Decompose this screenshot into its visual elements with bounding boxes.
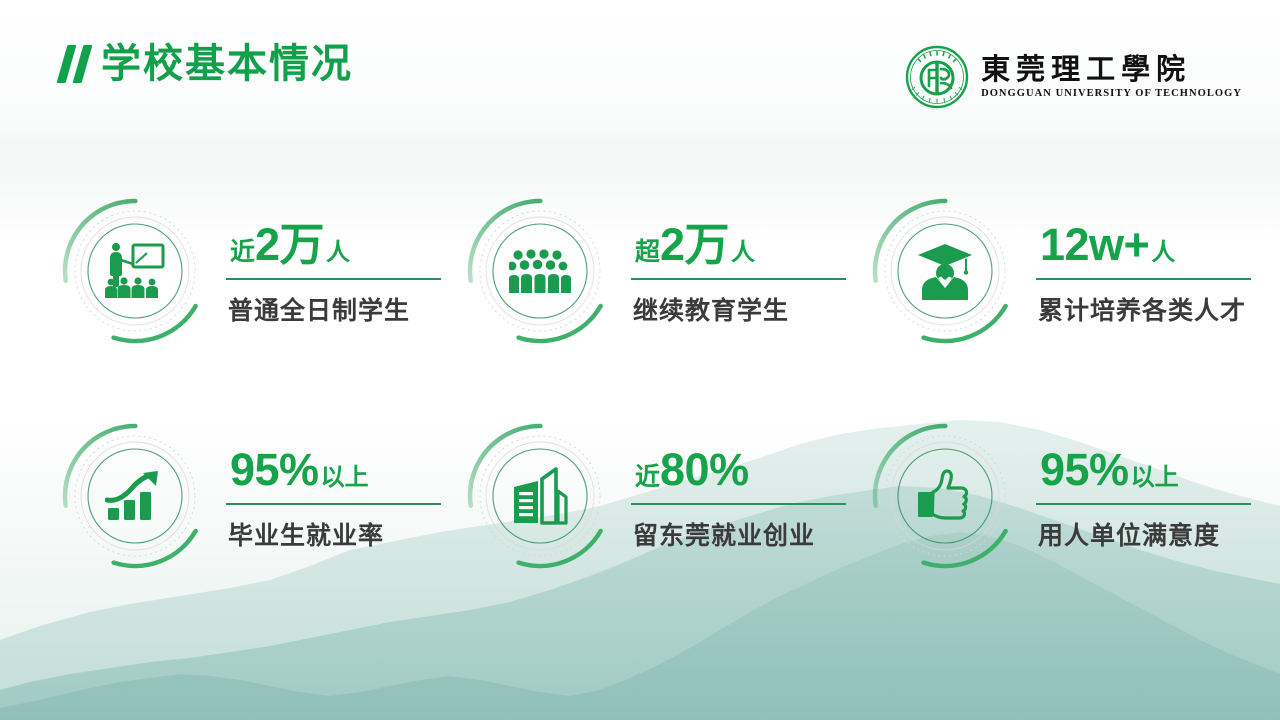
logo-wordmark: 東莞理工學院 DONGGUAN UNIVERSITY OF TECHNOLOGY [981, 55, 1242, 99]
stat-item-local-employment: 近 80% 留东莞就业创业 [465, 421, 870, 646]
logo-name-cn: 東莞理工學院 [981, 55, 1242, 86]
stat-text: 近 80% 留东莞就业创业 [631, 421, 863, 552]
slide-root: 学校基本情况 [0, 0, 1280, 720]
stat-item-employer-satisfaction: 95% 以上 用人单位满意度 [870, 421, 1275, 646]
stat-label: 普通全日制学生 [226, 291, 458, 327]
stat-badge [60, 196, 210, 346]
stat-divider [631, 503, 846, 505]
stat-value: 95% 以上 [226, 447, 458, 492]
stat-divider [226, 503, 441, 505]
stat-value-suffix: 以上 [319, 466, 369, 490]
double-slash-icon [57, 45, 93, 83]
slide-header: 学校基本情况 [0, 0, 1280, 140]
stat-value-main: 2万 [660, 222, 729, 267]
stat-value: 12w+ 人 [1036, 222, 1268, 267]
stat-label: 用人单位满意度 [1036, 516, 1268, 552]
stat-item-continuing-education: 超 2万 人 继续教育学生 [465, 196, 870, 421]
stat-value-main: 95% [1040, 447, 1129, 492]
stat-value: 近 2万 人 [226, 222, 458, 267]
stat-divider [1036, 278, 1251, 280]
growth-chart-icon [60, 421, 210, 571]
stat-badge [465, 421, 615, 571]
stat-value: 近 80% [631, 447, 863, 492]
stat-label: 累计培养各类人才 [1036, 291, 1268, 327]
logo-name-en: DONGGUAN UNIVERSITY OF TECHNOLOGY [981, 88, 1242, 99]
graduate-icon [870, 196, 1020, 346]
stat-value: 95% 以上 [1036, 447, 1268, 492]
teacher-classroom-icon [60, 196, 210, 346]
stat-value-suffix: 人 [324, 241, 350, 265]
stat-value-suffix: 人 [1149, 241, 1175, 265]
university-logo: 東莞理工學院 DONGGUAN UNIVERSITY OF TECHNOLOGY [905, 45, 1242, 109]
stat-text: 12w+ 人 累计培养各类人才 [1036, 196, 1268, 327]
stat-value: 超 2万 人 [631, 222, 863, 267]
stat-item-employment-rate: 95% 以上 毕业生就业率 [60, 421, 465, 646]
buildings-icon [465, 421, 615, 571]
title-block: 学校基本情况 [62, 44, 353, 84]
stat-label: 毕业生就业率 [226, 516, 458, 552]
stat-item-fulltime-students: 近 2万 人 普通全日制学生 [60, 196, 465, 421]
stat-divider [1036, 503, 1251, 505]
dongguan-university-seal-icon [905, 45, 969, 109]
stat-value-main: 2万 [255, 222, 324, 267]
stat-text: 超 2万 人 继续教育学生 [631, 196, 863, 327]
people-group-icon [465, 196, 615, 346]
stat-text: 95% 以上 毕业生就业率 [226, 421, 458, 552]
stat-value-suffix: 以上 [1129, 466, 1179, 490]
stats-grid: 近 2万 人 普通全日制学生 [60, 196, 1240, 646]
stat-item-talents-trained: 12w+ 人 累计培养各类人才 [870, 196, 1275, 421]
stat-badge [465, 196, 615, 346]
stat-badge [60, 421, 210, 571]
stat-text: 近 2万 人 普通全日制学生 [226, 196, 458, 327]
stat-value-main: 95% [230, 447, 319, 492]
thumbs-up-icon [870, 421, 1020, 571]
page-title: 学校基本情况 [101, 44, 353, 84]
stat-badge [870, 421, 1020, 571]
stat-label: 留东莞就业创业 [631, 516, 863, 552]
stat-value-main: 12w+ [1040, 222, 1149, 267]
stat-divider [631, 278, 846, 280]
stat-divider [226, 278, 441, 280]
stat-value-prefix: 近 [635, 465, 660, 490]
stat-text: 95% 以上 用人单位满意度 [1036, 421, 1268, 552]
stat-value-main: 80% [660, 447, 749, 492]
stat-value-suffix: 人 [729, 241, 755, 265]
stat-value-prefix: 超 [635, 240, 660, 265]
stat-value-prefix: 近 [230, 240, 255, 265]
stat-label: 继续教育学生 [631, 291, 863, 327]
stat-badge [870, 196, 1020, 346]
